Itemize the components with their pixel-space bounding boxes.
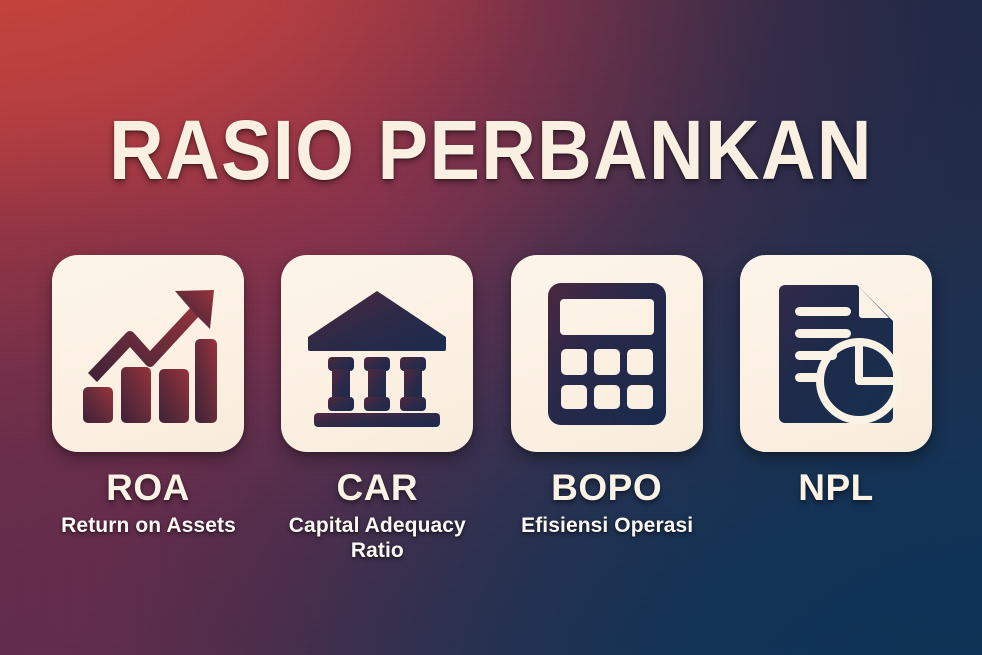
ratio-abbr-bopo: BOPO [511,466,703,510]
ratio-abbr-car: CAR [281,466,473,510]
icon-card-row [52,255,932,452]
ratio-label-roa: ROA Return on Assets [52,466,244,563]
poster-canvas: RASIO PERBANKAN [0,0,982,655]
icon-card-bopo[interactable] [511,255,703,452]
ratio-desc-roa: Return on Assets [41,513,256,538]
ratio-desc-bopo: Efisiensi Operasi [500,513,715,538]
ratio-abbr-npl: NPL [740,466,932,510]
page-title: RASIO PERBANKAN [49,108,933,192]
ratio-abbr-roa: ROA [52,466,244,510]
ratio-label-car: CAR Capital Adequacy Ratio [281,466,473,563]
document-pie-chart-icon [763,281,909,427]
ratio-label-bopo: BOPO Efisiensi Operasi [511,466,703,563]
ratio-label-row: ROA Return on Assets CAR Capital Adequac… [52,466,932,563]
icon-card-roa[interactable] [52,255,244,452]
ratio-label-npl: NPL [740,466,932,563]
icon-card-npl[interactable] [740,255,932,452]
calculator-icon [534,281,680,427]
bank-building-icon [304,281,450,427]
bar-chart-growth-icon [75,281,221,427]
ratio-desc-car: Capital Adequacy Ratio [281,513,473,563]
icon-card-car[interactable] [281,255,473,452]
